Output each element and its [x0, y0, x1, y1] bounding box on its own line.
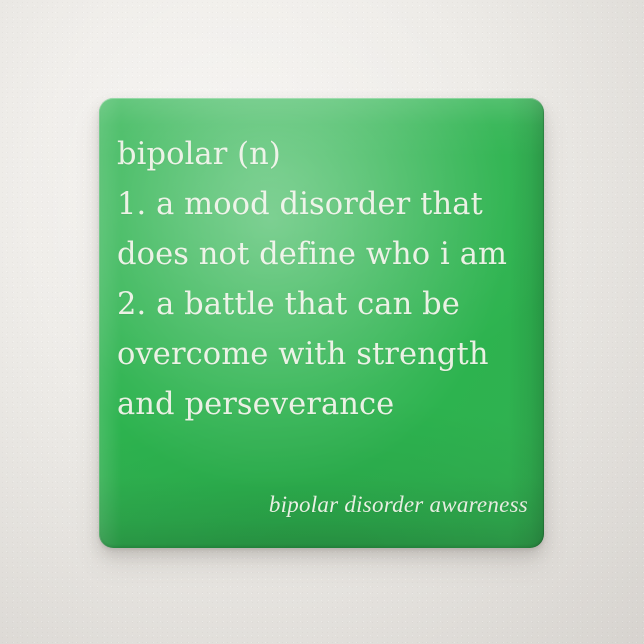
product-photo-scene: bipolar (n) 1. a mood disorder that does… — [0, 0, 644, 644]
definition-line-5: overcome with strength — [117, 330, 536, 380]
badge-content: bipolar (n) 1. a mood disorder that does… — [99, 98, 544, 548]
awareness-tagline: bipolar disorder awareness — [269, 492, 528, 518]
definition-line-4: 2. a battle that can be — [117, 280, 536, 330]
definition-line-6: and perseverance — [117, 380, 536, 430]
definition-line-2: 1. a mood disorder that — [117, 180, 536, 230]
definition-text-block: bipolar (n) 1. a mood disorder that does… — [117, 130, 536, 430]
definition-line-3: does not define who i am — [117, 230, 536, 280]
pinback-button-badge[interactable]: bipolar (n) 1. a mood disorder that does… — [99, 98, 544, 548]
definition-line-1: bipolar (n) — [117, 130, 536, 180]
